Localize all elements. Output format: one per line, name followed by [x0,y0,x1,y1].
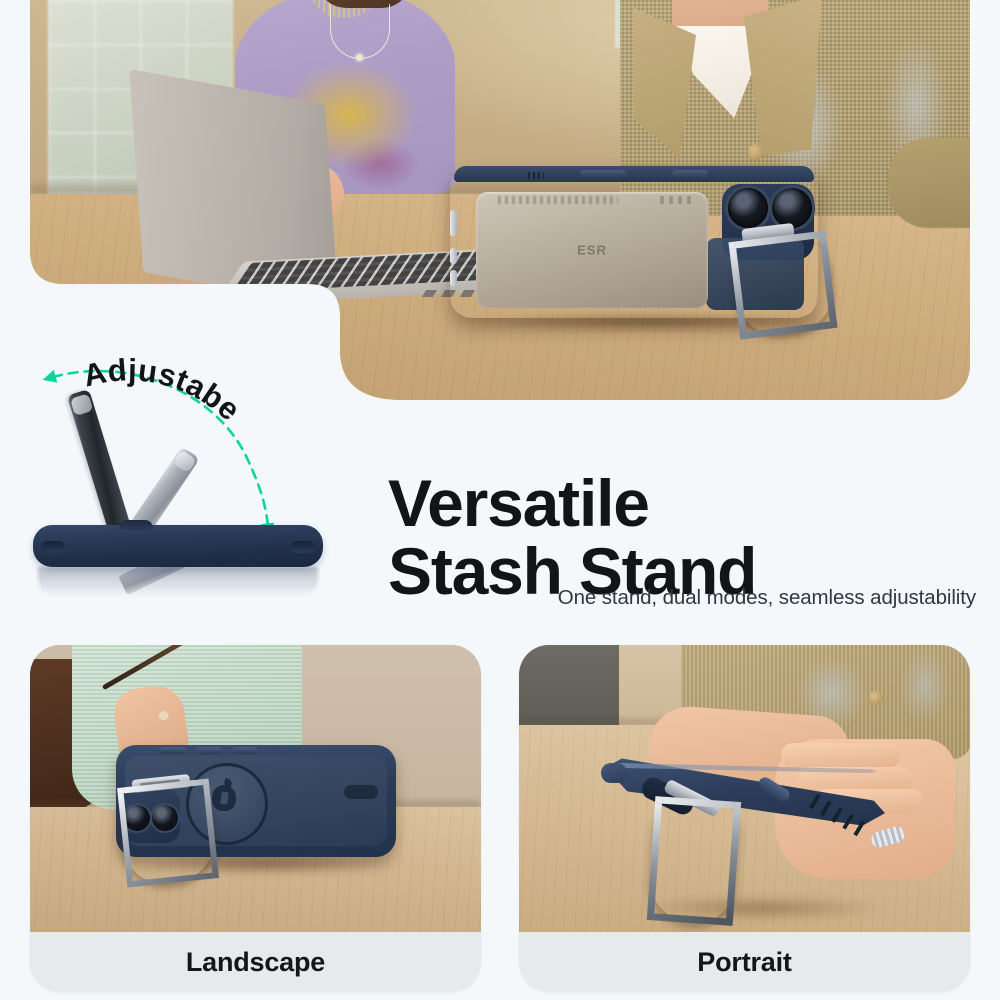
card-portrait[interactable]: Portrait [519,645,970,992]
battery-pack: ESR [476,192,708,308]
mode-cards: Landscape [30,645,970,992]
svg-text:Adjustabe: Adjustabe [80,352,247,427]
adjustable-label-text: Adjustabe [80,352,247,427]
landscape-photo [30,645,481,932]
marketing-page: ESR [0,0,1000,1000]
adjustable-angle-diagram: Adjustabe [10,340,380,590]
portrait-photo [519,645,970,932]
phone-in-portrait-mode [605,757,905,917]
base-reflection [38,567,318,597]
camera-lens-icon [728,188,768,228]
card-caption-portrait: Portrait [519,932,970,992]
esr-logo: ESR [577,243,607,258]
camera-lens-icon [772,188,812,228]
speaker-vents [528,172,544,179]
card-caption-landscape: Landscape [30,932,481,992]
kickstand-ring [647,796,741,926]
cardigan-button [748,144,764,160]
card-landscape[interactable]: Landscape [30,645,481,992]
cardigan-button [869,691,883,705]
apple-logo-icon [212,785,236,811]
headline-line-1: Versatile [388,466,649,540]
stand-base [33,525,323,567]
page-subtitle: One stand, dual modes, seamless adjustab… [558,586,976,610]
phone-in-landscape-mode [116,745,406,865]
phone-case-with-battery-pack: ESR [450,166,850,336]
